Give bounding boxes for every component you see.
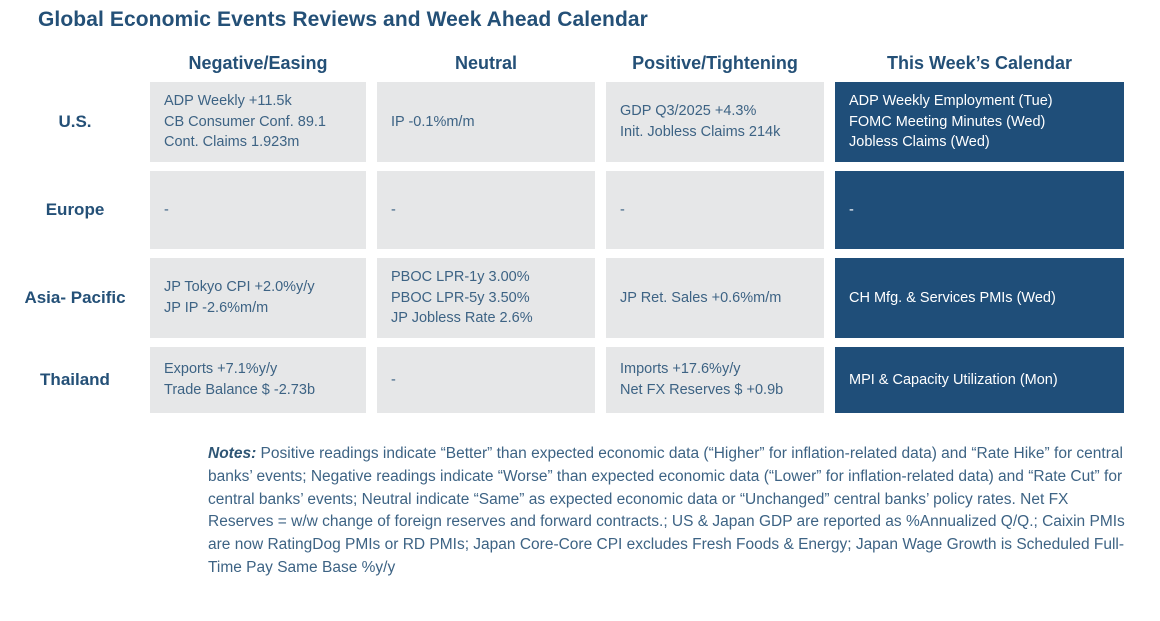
- cell-us-calendar: ADP Weekly Employment (Tue) FOMC Meeting…: [835, 82, 1124, 162]
- notes-block: Notes: Positive readings indicate “Bette…: [208, 443, 1130, 580]
- table-row: Thailand Exports +7.1%y/y Trade Balance …: [0, 347, 1160, 413]
- table-row: Europe - - - -: [0, 171, 1160, 249]
- row-label-us: U.S.: [0, 82, 150, 162]
- notes-text: Positive readings indicate “Better” than…: [208, 445, 1125, 576]
- row-label-thailand: Thailand: [0, 347, 150, 413]
- cell-thailand-neutral: -: [377, 347, 595, 413]
- cell-europe-positive: -: [606, 171, 824, 249]
- header-corner-spacer: [0, 44, 150, 82]
- row-label-asia-pacific: Asia- Pacific: [0, 258, 150, 338]
- cell-asia-pacific-positive: JP Ret. Sales +0.6%m/m: [606, 258, 824, 338]
- column-header-positive: Positive/Tightening: [606, 44, 824, 82]
- notes-label: Notes:: [208, 445, 256, 462]
- column-header-calendar: This Week’s Calendar: [835, 44, 1124, 82]
- row-label-europe: Europe: [0, 171, 150, 249]
- cell-thailand-positive: Imports +17.6%y/y Net FX Reserves $ +0.9…: [606, 347, 824, 413]
- table-header-row: Negative/Easing Neutral Positive/Tighten…: [0, 44, 1160, 82]
- cell-thailand-negative: Exports +7.1%y/y Trade Balance $ -2.73b: [150, 347, 366, 413]
- table-row: Asia- Pacific JP Tokyo CPI +2.0%y/y JP I…: [0, 258, 1160, 338]
- cell-europe-negative: -: [150, 171, 366, 249]
- cell-us-negative: ADP Weekly +11.5k CB Consumer Conf. 89.1…: [150, 82, 366, 162]
- cell-europe-calendar: -: [835, 171, 1124, 249]
- cell-europe-neutral: -: [377, 171, 595, 249]
- page-title: Global Economic Events Reviews and Week …: [38, 8, 648, 32]
- cell-asia-pacific-calendar: CH Mfg. & Services PMIs (Wed): [835, 258, 1124, 338]
- cell-us-neutral: IP -0.1%m/m: [377, 82, 595, 162]
- table-row: U.S. ADP Weekly +11.5k CB Consumer Conf.…: [0, 82, 1160, 162]
- column-header-neutral: Neutral: [377, 44, 595, 82]
- cell-asia-pacific-negative: JP Tokyo CPI +2.0%y/y JP IP -2.6%m/m: [150, 258, 366, 338]
- cell-thailand-calendar: MPI & Capacity Utilization (Mon): [835, 347, 1124, 413]
- cell-asia-pacific-neutral: PBOC LPR-1y 3.00% PBOC LPR-5y 3.50% JP J…: [377, 258, 595, 338]
- economic-events-table: Negative/Easing Neutral Positive/Tighten…: [0, 44, 1160, 413]
- cell-us-positive: GDP Q3/2025 +4.3% Init. Jobless Claims 2…: [606, 82, 824, 162]
- column-header-negative: Negative/Easing: [150, 44, 366, 82]
